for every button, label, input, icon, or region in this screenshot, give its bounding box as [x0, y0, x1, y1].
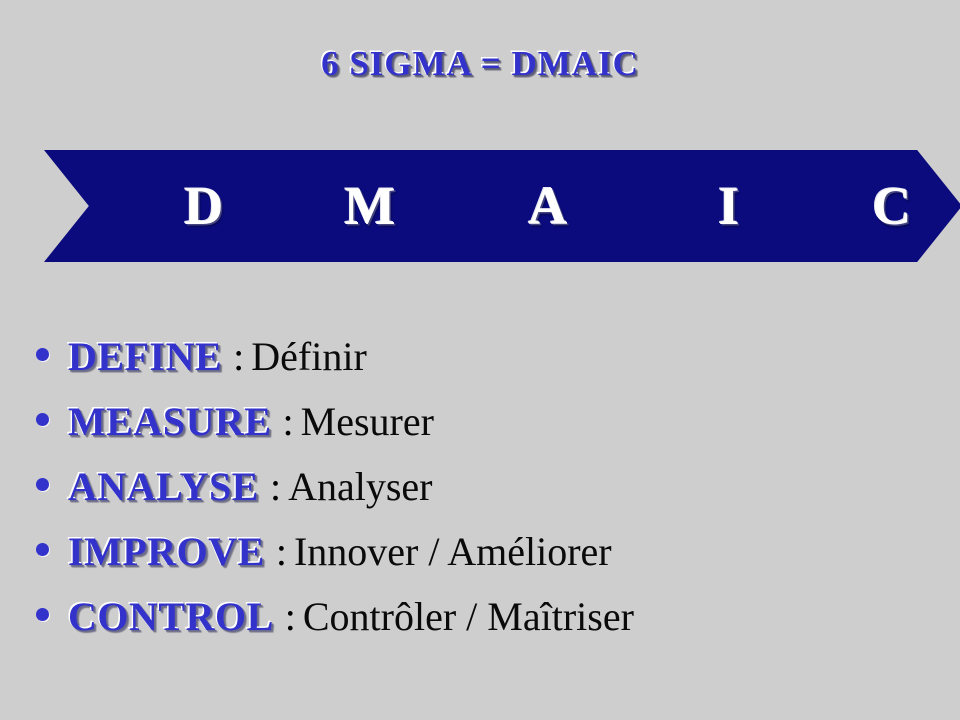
- separator-colon: :: [259, 463, 288, 510]
- bullet-dot-icon: [36, 543, 49, 556]
- term-analyse: ANALYSE: [68, 463, 259, 510]
- dmaic-definition-list: DEFINE : Définir MEASURE : Mesurer ANALY…: [36, 333, 936, 658]
- translation-define: Définir: [251, 333, 367, 380]
- bullet-dot-icon: [36, 413, 49, 426]
- separator-colon: :: [265, 528, 294, 575]
- list-item: IMPROVE : Innover / Améliorer: [36, 528, 936, 593]
- page-title: 6 SIGMA = DMAIC: [0, 44, 960, 84]
- separator-colon: :: [222, 333, 251, 380]
- translation-improve: Innover / Améliorer: [294, 528, 612, 575]
- chevron-letter-c: C: [872, 179, 960, 233]
- separator-colon: :: [274, 593, 303, 640]
- list-item: MEASURE : Mesurer: [36, 398, 936, 463]
- list-item: CONTROL : Contrôler / Maîtriser: [36, 593, 936, 658]
- separator-colon: :: [272, 398, 301, 445]
- term-improve: IMPROVE: [68, 528, 265, 575]
- slide-canvas: 6 SIGMA = DMAIC D M A I C DEFINE : Défin…: [0, 0, 960, 720]
- translation-analyse: Analyser: [288, 463, 432, 510]
- translation-control: Contrôler / Maîtriser: [303, 593, 634, 640]
- bullet-dot-icon: [36, 348, 49, 361]
- list-item: ANALYSE : Analyser: [36, 463, 936, 528]
- translation-measure: Mesurer: [301, 398, 434, 445]
- bullet-dot-icon: [36, 478, 49, 491]
- dmaic-chevron-band: D M A I C: [44, 150, 924, 262]
- list-item: DEFINE : Définir: [36, 333, 936, 398]
- term-define: DEFINE: [68, 333, 222, 380]
- term-control: CONTROL: [68, 593, 274, 640]
- bullet-dot-icon: [36, 608, 49, 621]
- term-measure: MEASURE: [68, 398, 272, 445]
